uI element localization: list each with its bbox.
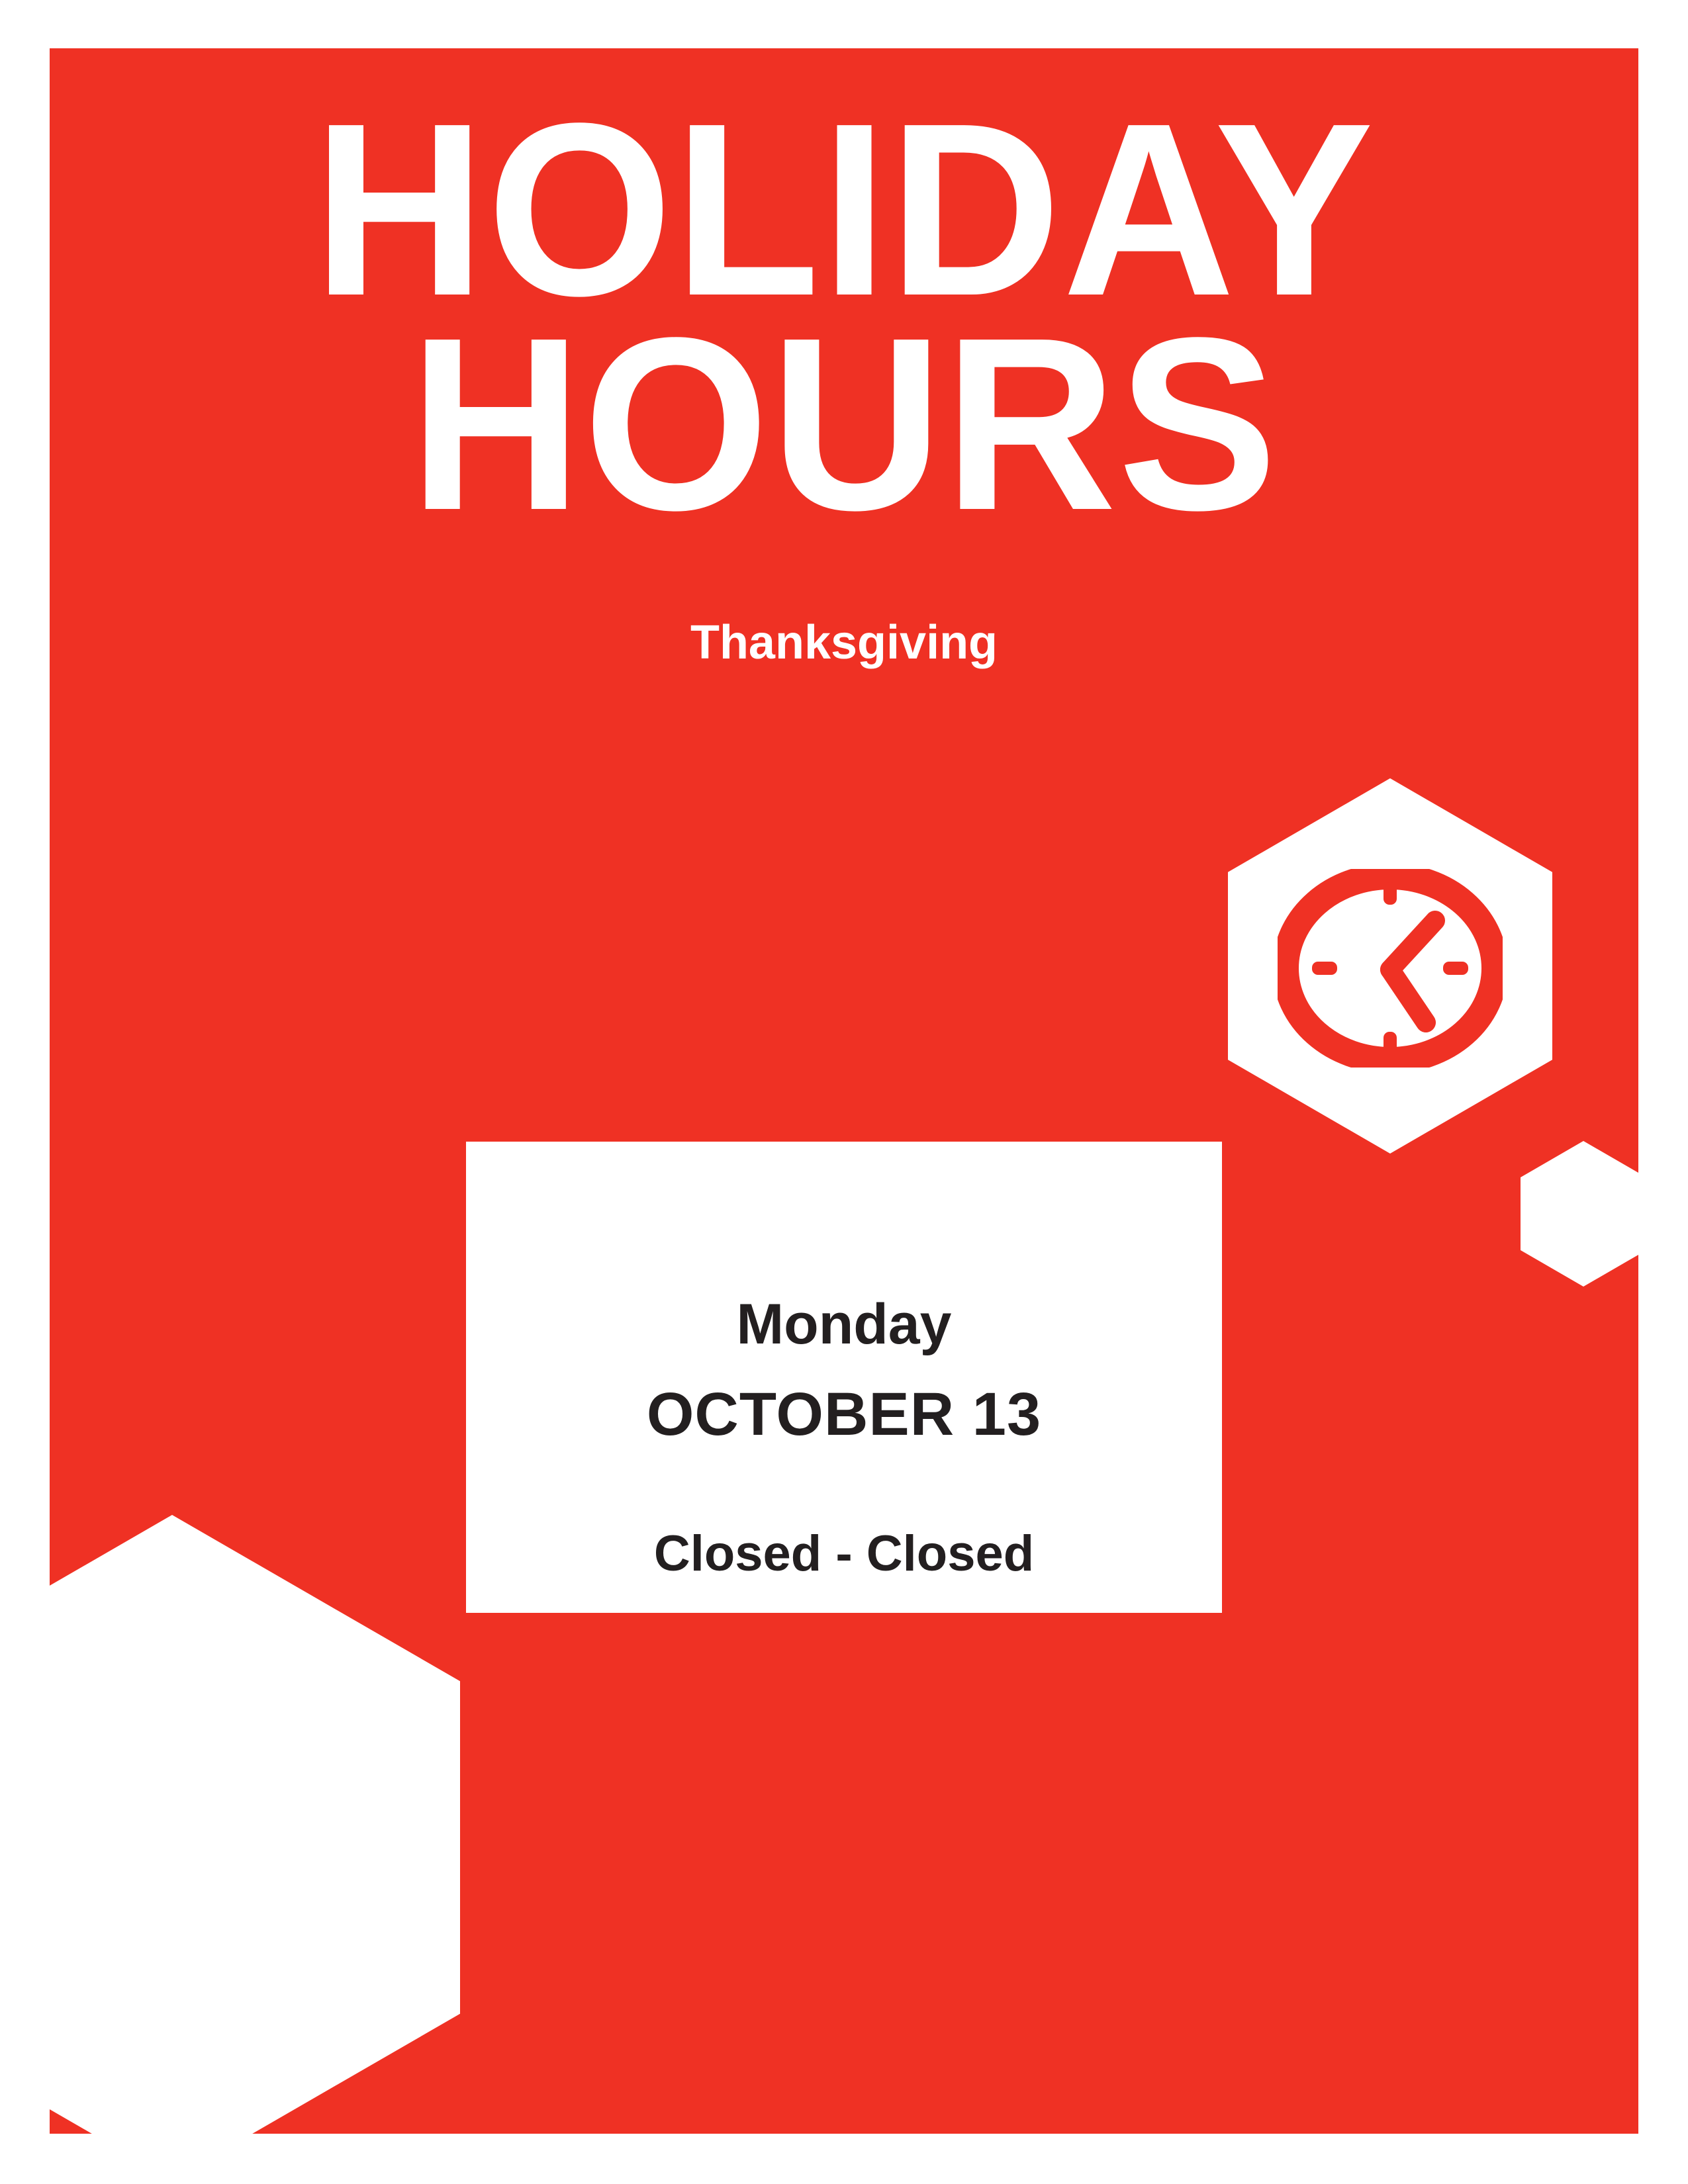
page-title-line-2: HOURS — [73, 316, 1615, 532]
clock-minute-hand — [1390, 970, 1426, 1023]
page-subtitle: Thanksgiving — [50, 619, 1638, 666]
card-date: OCTOBER 13 — [466, 1384, 1222, 1445]
hexagon-small — [1521, 1141, 1638, 1287]
clock-icon — [1278, 869, 1503, 1068]
card-hours: Closed - Closed — [466, 1529, 1222, 1579]
clock-tick-12 — [1383, 882, 1397, 905]
clock-tick-9 — [1312, 962, 1337, 975]
clock-tick-3 — [1443, 962, 1468, 975]
hours-info-card: Monday OCTOBER 13 Closed - Closed — [466, 1142, 1222, 1613]
clock-tick-6 — [1383, 1032, 1397, 1054]
card-weekday: Monday — [466, 1296, 1222, 1353]
red-background-panel: HOLIDAY HOURS Thanksgiving Monday OCTOBE… — [50, 48, 1638, 2134]
clock-hour-hand — [1390, 921, 1435, 970]
hexagon-bottom-left — [50, 1515, 460, 2134]
holiday-hours-poster: HOLIDAY HOURS Thanksgiving Monday OCTOBE… — [0, 0, 1688, 2184]
